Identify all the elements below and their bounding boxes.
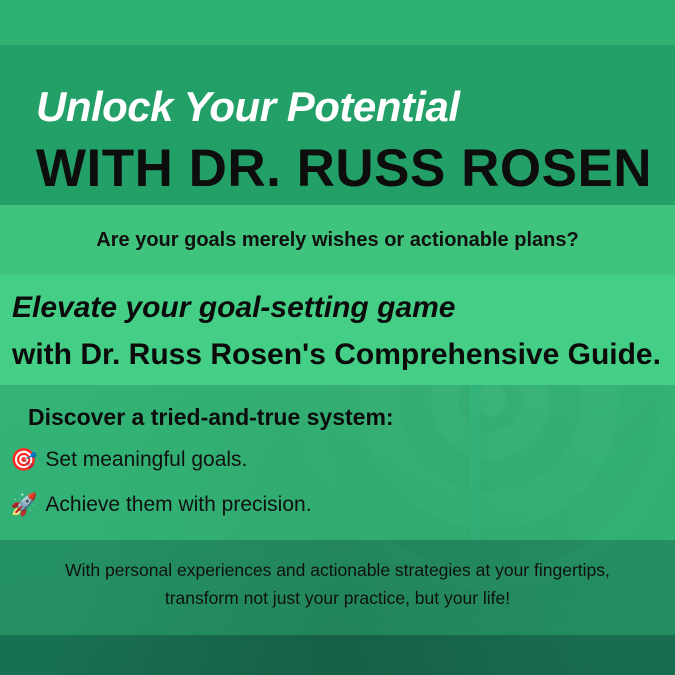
tagline-question: Are your goals merely wishes or actionab… <box>0 229 675 252</box>
pitch-line-2: with Dr. Russ Rosen's Comprehensive Guid… <box>12 338 661 372</box>
list-item-label: Set meaningful goals. <box>45 448 247 472</box>
footnote: With personal experiences and actionable… <box>0 556 675 612</box>
headline-primary: Unlock Your Potential <box>36 83 460 131</box>
discover-heading: Discover a tried-and-true system: <box>28 404 394 431</box>
rocket-icon: 🚀 <box>10 494 37 516</box>
footnote-line-2: transform not just your practice, but yo… <box>0 584 675 612</box>
headline-secondary: WITH DR. RUSS ROSEN <box>36 138 652 199</box>
list-item: 🚀 Achieve them with precision. <box>10 493 312 517</box>
poster-content: Unlock Your Potential WITH DR. RUSS ROSE… <box>0 0 675 675</box>
footnote-line-1: With personal experiences and actionable… <box>0 556 675 584</box>
list-item: 🎯 Set meaningful goals. <box>10 448 247 472</box>
list-item-label: Achieve them with precision. <box>45 493 311 517</box>
dart-target-icon: 🎯 <box>10 449 37 471</box>
promo-poster: Unlock Your Potential WITH DR. RUSS ROSE… <box>0 0 675 675</box>
pitch-line-1: Elevate your goal-setting game <box>12 291 455 325</box>
